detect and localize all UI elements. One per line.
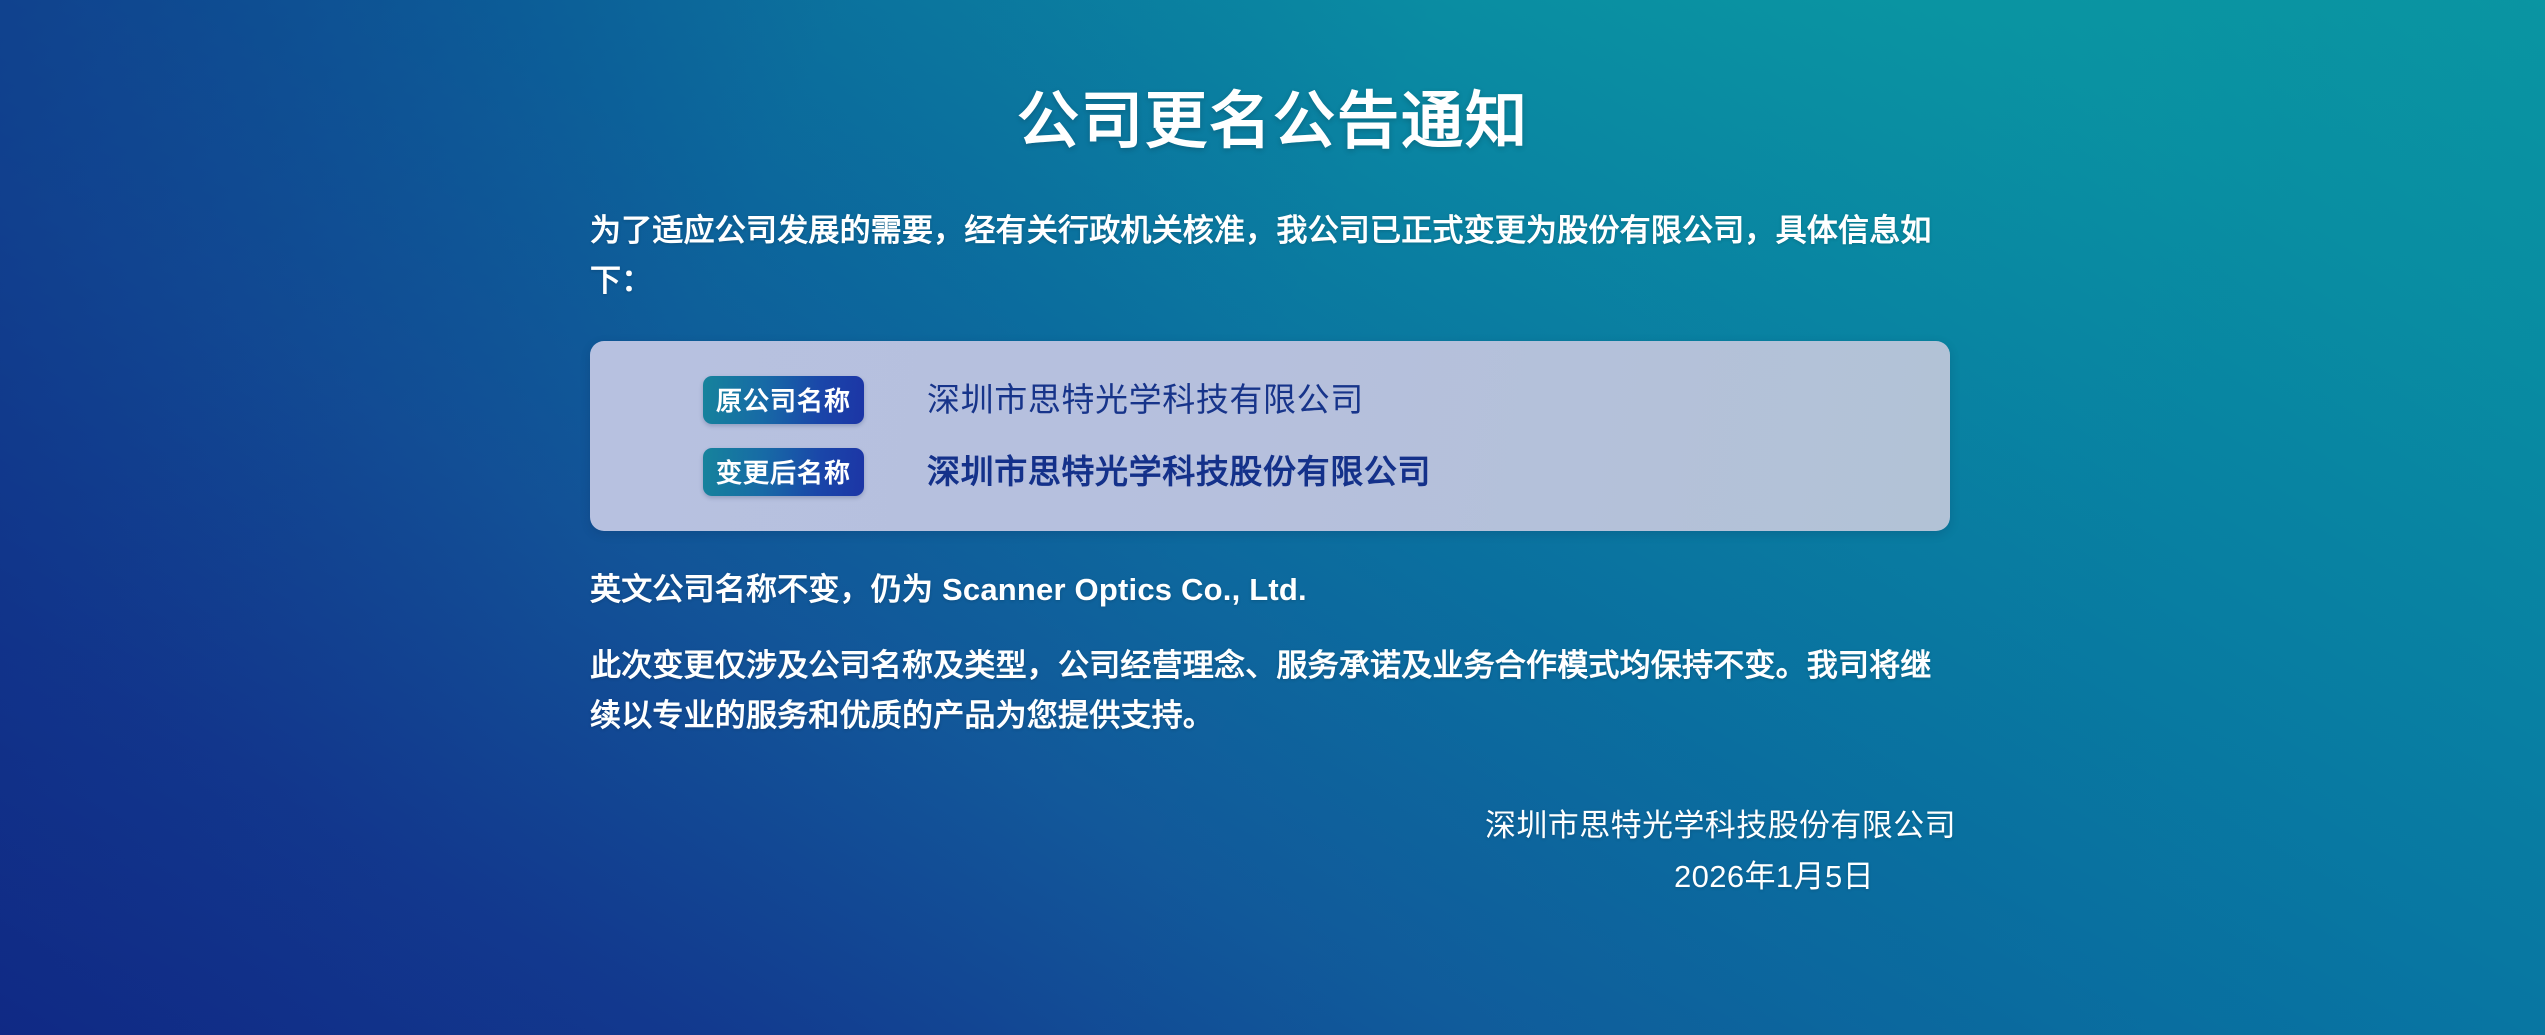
page-title: 公司更名公告通知: [590, 0, 1956, 156]
company-name-card: 原公司名称 深圳市思特光学科技有限公司 变更后名称 深圳市思特光学科技股份有限公…: [590, 341, 1950, 531]
value-old-company-name: 深圳市思特光学科技有限公司: [927, 380, 1364, 420]
badge-old-company-name: 原公司名称: [703, 376, 864, 424]
info-row-new-name: 变更后名称 深圳市思特光学科技股份有限公司: [590, 443, 1950, 501]
info-row-old-name: 原公司名称 深圳市思特光学科技有限公司: [590, 371, 1950, 429]
english-name-note: 英文公司名称不变，仍为 Scanner Optics Co., Ltd.: [590, 531, 1956, 614]
signature-date: 2026年1月5日: [590, 849, 1956, 900]
closing-paragraph: 此次变更仅涉及公司名称及类型，公司经营理念、服务承诺及业务合作模式均保持不变。我…: [590, 613, 1956, 741]
content-column: 公司更名公告通知 为了适应公司发展的需要，经有关行政机关核准，我公司已正式变更为…: [590, 0, 1956, 1035]
badge-new-company-name: 变更后名称: [703, 448, 864, 496]
announcement-page: 公司更名公告通知 为了适应公司发展的需要，经有关行政机关核准，我公司已正式变更为…: [0, 0, 2545, 1035]
signature-company-name: 深圳市思特光学科技股份有限公司: [590, 804, 1956, 849]
signature-block: 深圳市思特光学科技股份有限公司 2026年1月5日: [590, 742, 1956, 900]
intro-paragraph: 为了适应公司发展的需要，经有关行政机关核准，我公司已正式变更为股份有限公司，具体…: [590, 156, 1956, 306]
value-new-company-name: 深圳市思特光学科技股份有限公司: [927, 452, 1431, 492]
